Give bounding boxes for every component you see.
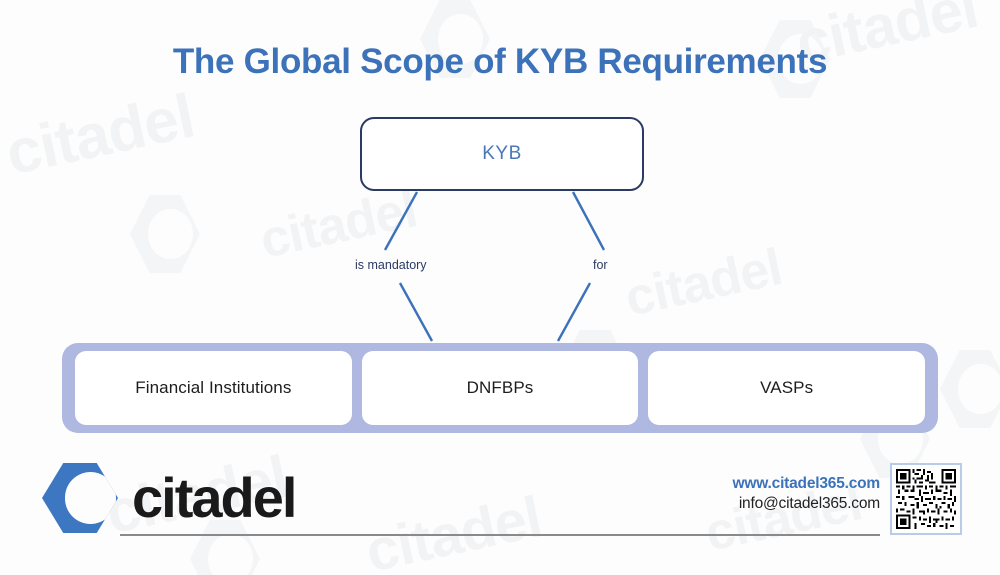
footer-divider — [120, 534, 880, 536]
hexagon-logo-icon — [42, 463, 118, 533]
edge-label-is-mandatory: is mandatory — [355, 258, 427, 272]
page-title: The Global Scope of KYB Requirements — [0, 42, 1000, 82]
website-link[interactable]: www.citadel365.com — [733, 475, 880, 493]
node-vasps-label: VASPs — [760, 378, 813, 398]
node-dnfbps-label: DNFBPs — [467, 378, 534, 398]
email-address[interactable]: info@citadel365.com — [733, 495, 880, 513]
infographic-canvas: citadelcitadelcitadelcitadelcitadelcitad… — [0, 0, 1000, 575]
edge-left-upper — [385, 192, 417, 250]
brand-wordmark: citadel — [132, 470, 295, 526]
node-kyb-label: KYB — [482, 143, 522, 165]
edge-left-lower — [400, 283, 432, 341]
edge-label-for: for — [593, 258, 608, 272]
edge-right-lower — [558, 283, 590, 341]
node-vasps[interactable]: VASPs — [648, 351, 925, 425]
brand-logo: citadel — [42, 463, 295, 533]
qr-code-icon[interactable] — [890, 463, 962, 535]
category-band: Financial Institutions DNFBPs VASPs — [62, 343, 938, 433]
node-financial-institutions-label: Financial Institutions — [135, 378, 291, 398]
node-financial-institutions[interactable]: Financial Institutions — [75, 351, 352, 425]
node-kyb[interactable]: KYB — [360, 117, 644, 191]
contact-block: www.citadel365.com info@citadel365.com — [733, 475, 880, 513]
edge-right-upper — [573, 192, 604, 250]
node-dnfbps[interactable]: DNFBPs — [362, 351, 639, 425]
qr-code-matrix — [896, 469, 956, 529]
footer: citadel www.citadel365.com info@citadel3… — [0, 455, 1000, 575]
